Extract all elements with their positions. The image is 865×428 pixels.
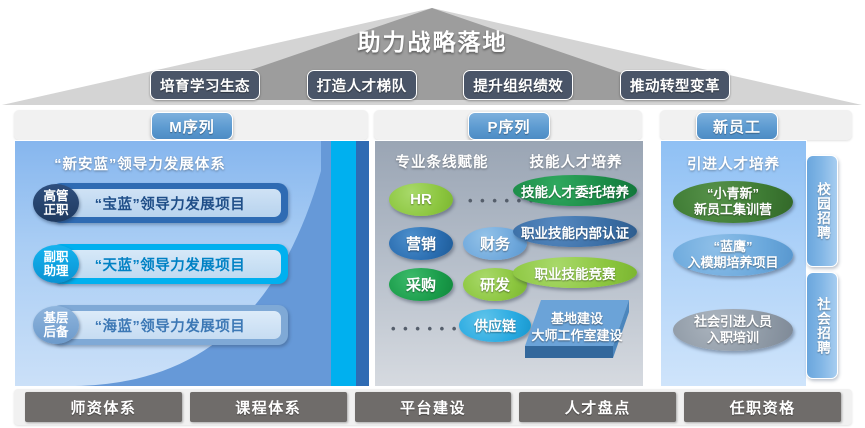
p-skill-1[interactable]: 技能人才委托培养 <box>513 175 637 206</box>
panel-new-employee: 引进人才培养 “小青新” 新员工集训营 “蓝鹰” 入模期培养项目 社会引进人员 … <box>660 140 807 387</box>
n-item-1-line1: “小青新” <box>707 186 759 202</box>
m-panel-title: “新安蓝”领导力发展体系 <box>14 153 317 174</box>
curve-stripe-dark <box>356 141 369 386</box>
n-item-3-line2: 入职培训 <box>707 330 759 346</box>
m-row-3-badge: 基层 后备 <box>33 306 79 344</box>
n-item-1-line2: 新员工集训营 <box>694 202 772 218</box>
column-chip-p[interactable]: P序列 <box>468 112 550 140</box>
column-chip-m[interactable]: M序列 <box>151 112 233 140</box>
cube-front-face <box>525 346 613 358</box>
strategy-button-3[interactable]: 提升组织绩效 <box>463 70 573 100</box>
m-row-1-badge-line1: 高管 <box>43 189 68 203</box>
cube-label-line1: 基地建设 <box>515 310 639 327</box>
p-base-construction-cube[interactable]: 基地建设 大师工作室建设 <box>515 296 639 374</box>
n-item-2-line2: 入模期培养项目 <box>687 255 778 271</box>
p-left-title: 专业条线赋能 <box>375 151 509 172</box>
foundation-row: 师资体系 课程体系 平台建设 人才盘点 任职资格 <box>14 389 852 425</box>
recruit-tab-social[interactable]: 社会招聘 <box>806 272 838 379</box>
n-item-1[interactable]: “小青新” 新员工集训营 <box>673 181 793 223</box>
pyramid-diagram: 助力战略落地 培育学习生态 打造人才梯队 提升组织绩效 推动转型变革 M序列 P… <box>0 0 865 428</box>
m-row-2-badge-line2: 助理 <box>43 264 68 278</box>
m-row-3-label: “海蓝”领导力发展项目 <box>59 311 281 339</box>
m-row-1-bar: “宝蓝”领导力发展项目 <box>51 183 288 223</box>
m-row-1[interactable]: “宝蓝”领导力发展项目 高管 正职 <box>33 183 288 223</box>
n-panel-title: 引进人才培养 <box>661 153 806 174</box>
m-row-2-badge: 副职 助理 <box>33 245 79 283</box>
roof-title: 助力战略落地 <box>0 23 865 57</box>
m-row-1-badge: 高管 正职 <box>33 184 79 222</box>
foundation-button-4[interactable]: 人才盘点 <box>519 392 676 422</box>
n-item-3-line1: 社会引进人员 <box>694 314 772 330</box>
cube-label-line2: 大师工作室建设 <box>515 327 639 344</box>
strategy-button-row: 培育学习生态 打造人才梯队 提升组织绩效 推动转型变革 <box>150 70 730 100</box>
recruit-tab-campus[interactable]: 校园招聘 <box>806 155 838 267</box>
foundation-button-5[interactable]: 任职资格 <box>684 392 841 422</box>
m-row-3-badge-line2: 后备 <box>43 325 68 339</box>
cube-label: 基地建设 大师工作室建设 <box>515 310 639 344</box>
n-item-2[interactable]: “蓝鹰” 入模期培养项目 <box>673 234 793 276</box>
curve-stripe-cyan <box>331 141 356 386</box>
m-row-1-label: “宝蓝”领导力发展项目 <box>59 189 281 217</box>
n-item-2-line1: “蓝鹰” <box>713 239 752 255</box>
m-row-2-badge-line1: 副职 <box>43 250 68 264</box>
strategy-button-1[interactable]: 培育学习生态 <box>150 70 260 100</box>
strategy-button-4[interactable]: 推动转型变革 <box>620 70 730 100</box>
p-skill-3[interactable]: 职业技能竞赛 <box>513 257 637 288</box>
foundation-button-3[interactable]: 平台建设 <box>355 392 512 422</box>
foundation-button-1[interactable]: 师资体系 <box>25 392 182 422</box>
m-row-3-badge-line1: 基层 <box>43 311 68 325</box>
m-row-3-bar: “海蓝”领导力发展项目 <box>51 305 288 345</box>
m-row-2[interactable]: “天蓝”领导力发展项目 副职 助理 <box>33 244 288 284</box>
m-row-1-badge-line2: 正职 <box>43 203 68 217</box>
roof-section: 助力战略落地 培育学习生态 打造人才梯队 提升组织绩效 推动转型变革 <box>0 0 865 110</box>
n-item-3[interactable]: 社会引进人员 入职培训 <box>673 309 793 351</box>
column-chip-n[interactable]: 新员工 <box>696 112 778 140</box>
foundation-button-2[interactable]: 课程体系 <box>190 392 347 422</box>
m-row-2-label: “天蓝”领导力发展项目 <box>59 250 281 278</box>
p-skill-2[interactable]: 职业技能内部认证 <box>513 216 637 247</box>
panel-m-series: “新安蓝”领导力发展体系 “宝蓝”领导力发展项目 高管 正职 “天蓝”领导力发展… <box>14 140 370 387</box>
p-function-procurement[interactable]: 采购 <box>389 268 453 301</box>
m-row-3[interactable]: “海蓝”领导力发展项目 基层 后备 <box>33 305 288 345</box>
p-ellipsis-bottom: • • • • • • <box>391 321 458 336</box>
strategy-button-2[interactable]: 打造人才梯队 <box>307 70 417 100</box>
p-right-title: 技能人才培养 <box>509 151 643 172</box>
p-function-marketing[interactable]: 营销 <box>389 227 453 260</box>
panel-p-series: 专业条线赋能 技能人才培养 HR • • • • • • 营销 财务 采购 研发… <box>374 140 644 387</box>
p-function-hr[interactable]: HR <box>389 183 453 216</box>
m-row-2-bar: “天蓝”领导力发展项目 <box>51 244 288 284</box>
curve-stripe-medium <box>321 141 331 386</box>
